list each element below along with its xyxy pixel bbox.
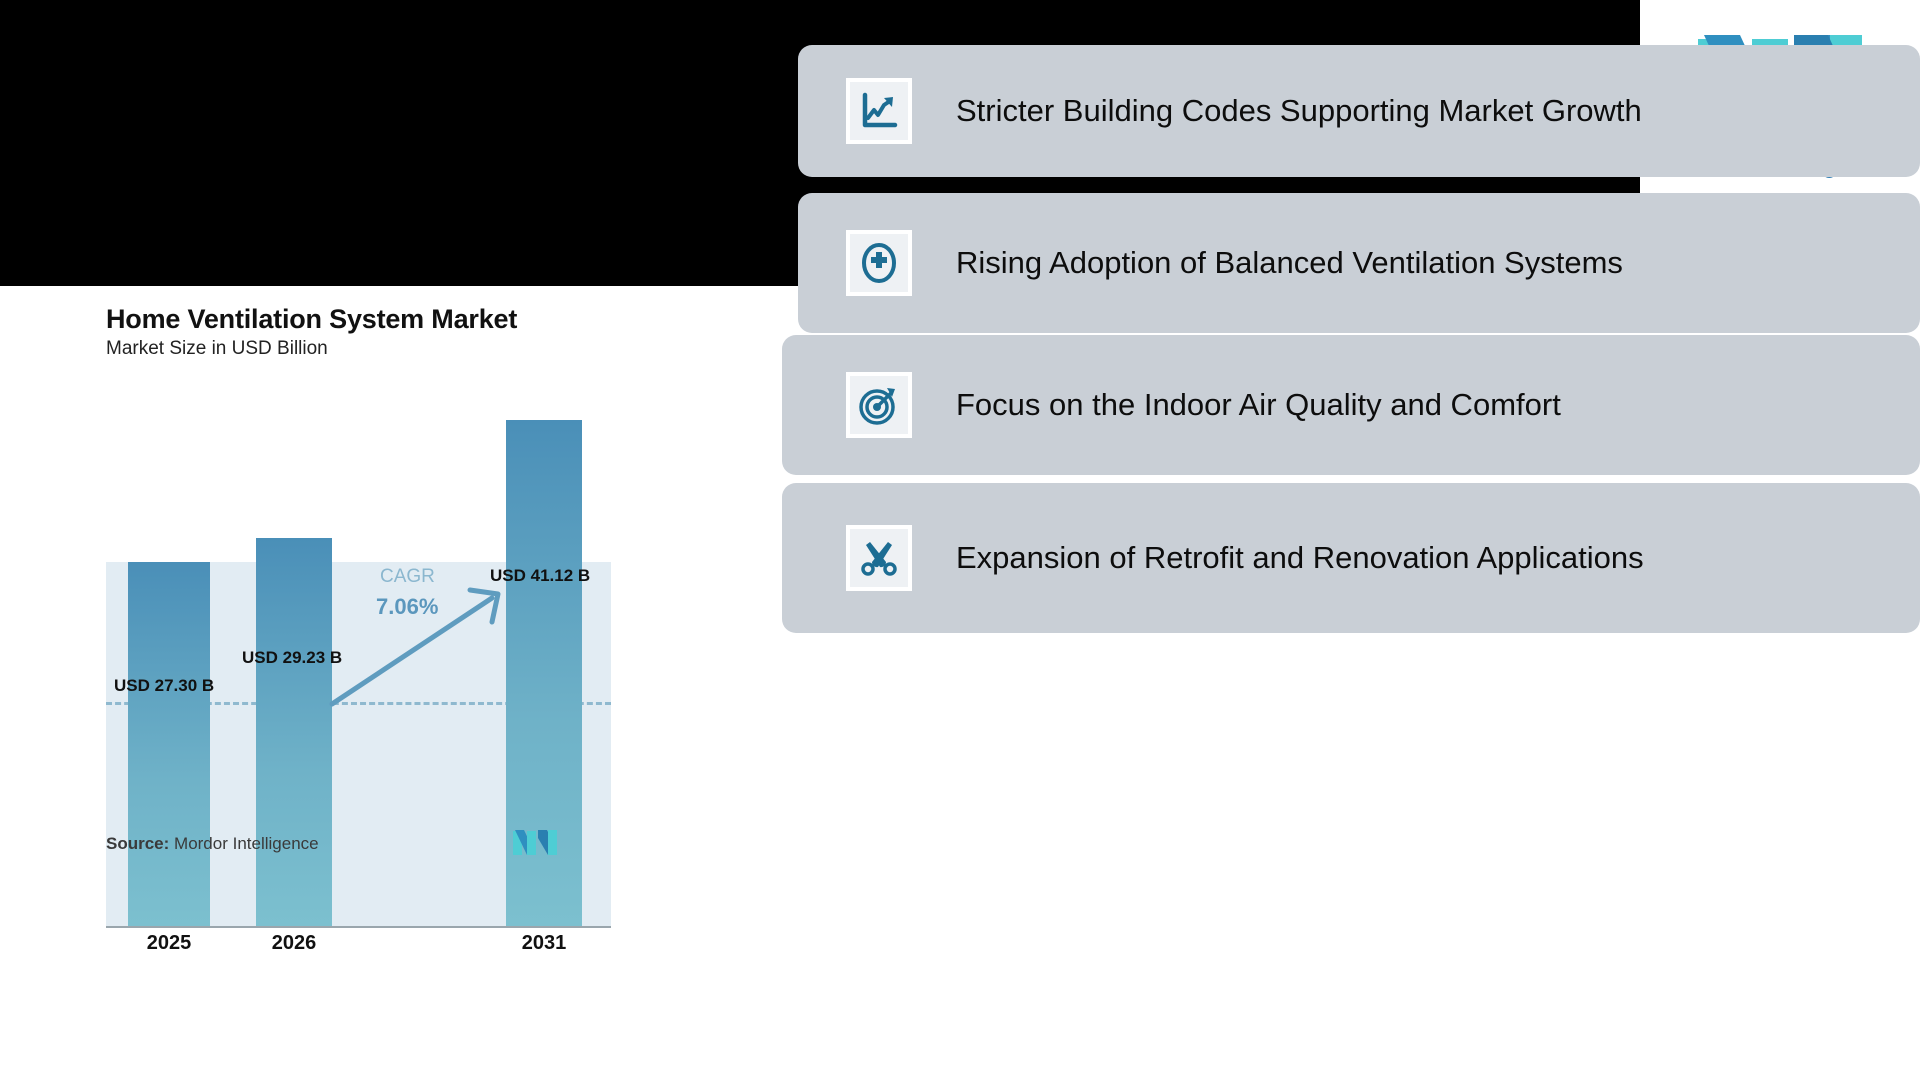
source-line: Source: Mordor Intelligence	[106, 834, 319, 854]
callout-item-2[interactable]: Rising Adoption of Balanced Ventilation …	[798, 193, 1920, 333]
bar-2025	[128, 562, 210, 926]
source-mordor-mark-icon	[512, 828, 558, 858]
callout-item-3[interactable]: Focus on the Indoor Air Quality and Comf…	[782, 335, 1920, 475]
callout-text-3: Focus on the Indoor Air Quality and Comf…	[956, 384, 1561, 426]
x-label-2025: 2025	[124, 932, 214, 955]
value-label-2026: USD 29.23 B	[242, 648, 342, 668]
x-axis-line	[106, 926, 611, 928]
callout-text-4: Expansion of Retrofit and Renovation App…	[956, 537, 1644, 579]
x-label-2026: 2026	[249, 932, 339, 955]
source-label: Source:	[106, 834, 169, 853]
infographic-root: Mordor Intelligence Home Ventilation Sys…	[0, 0, 1920, 1078]
line-chart-growth-icon	[846, 78, 912, 144]
target-bullseye-arrow-icon	[846, 372, 912, 438]
page-title: Home Ventilation System Market	[106, 304, 517, 335]
plus-circle-medical-icon	[846, 230, 912, 296]
wrench-screwdriver-tools-icon	[846, 525, 912, 591]
x-label-2031: 2031	[499, 932, 589, 955]
cagr-label: CAGR	[380, 566, 435, 588]
cagr-value: 7.06%	[376, 594, 438, 620]
value-label-2031: USD 41.12 B	[490, 566, 590, 586]
callout-text-1: Stricter Building Codes Supporting Marke…	[956, 90, 1642, 132]
bar-2026	[256, 538, 332, 926]
callout-item-1[interactable]: Stricter Building Codes Supporting Marke…	[798, 45, 1920, 177]
source-value: Mordor Intelligence	[174, 834, 319, 853]
callout-item-4[interactable]: Expansion of Retrofit and Renovation App…	[782, 483, 1920, 633]
x-axis-labels: 2025 2026 2031	[106, 932, 611, 966]
chart-subtitle: Market Size in USD Billion	[106, 338, 328, 360]
callout-text-2: Rising Adoption of Balanced Ventilation …	[956, 242, 1623, 284]
value-label-2025: USD 27.30 B	[114, 676, 214, 696]
callout-list: Stricter Building Codes Supporting Marke…	[782, 0, 1920, 792]
